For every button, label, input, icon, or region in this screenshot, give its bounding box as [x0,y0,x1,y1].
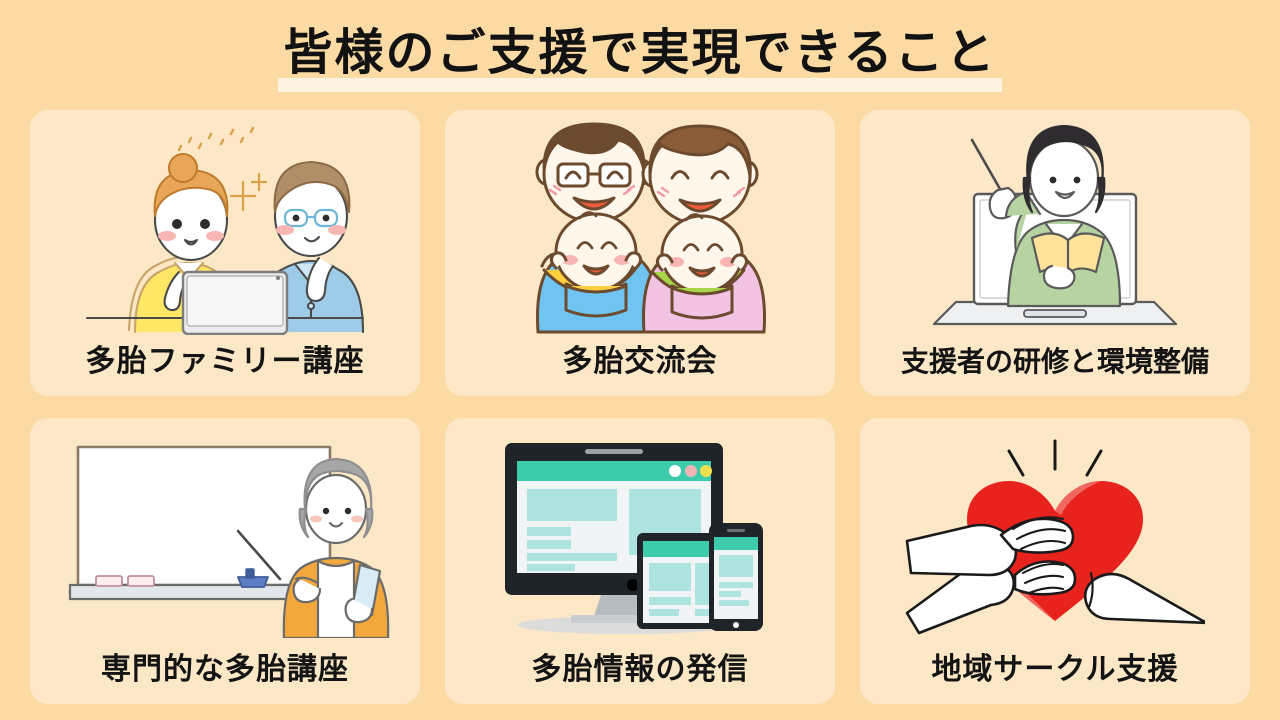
slide-root: 皆様のご支援で実現できること [0,0,1280,720]
page-title-text: 皆様のご支援で実現できること [283,28,996,77]
card-label: 多胎ファミリー講座 [18,336,432,380]
card-tatai-family-kouza[interactable]: 多胎ファミリー講座 [30,110,420,396]
whiteboard-teacher-illustration [30,426,420,644]
family-with-twins-illustration [445,118,835,336]
card-tatai-kouryuukai[interactable]: 多胎交流会 [445,110,835,396]
page-title: 皆様のご支援で実現できること [0,16,1280,88]
card-label: 多胎交流会 [433,336,847,380]
hands-on-heart-illustration [860,426,1250,644]
card-grid: 多胎ファミリー講座 [30,110,1250,706]
couple-at-laptop-illustration [30,118,420,336]
card-chiiki-circle-shien[interactable]: 地域サークル支援 [860,418,1250,704]
card-label: 支援者の研修と環境整備 [848,340,1262,380]
responsive-devices-illustration [445,426,835,644]
card-label: 専門的な多胎講座 [18,644,432,688]
card-label: 地域サークル支援 [848,644,1262,688]
online-teacher-laptop-illustration [860,118,1250,336]
card-shiensha-kenshuu[interactable]: 支援者の研修と環境整備 [860,110,1250,396]
card-senmonteki-tatai-kouza[interactable]: 専門的な多胎講座 [30,418,420,704]
card-label: 多胎情報の発信 [433,644,847,688]
card-tatai-jouhou-hasshin[interactable]: 多胎情報の発信 [445,418,835,704]
